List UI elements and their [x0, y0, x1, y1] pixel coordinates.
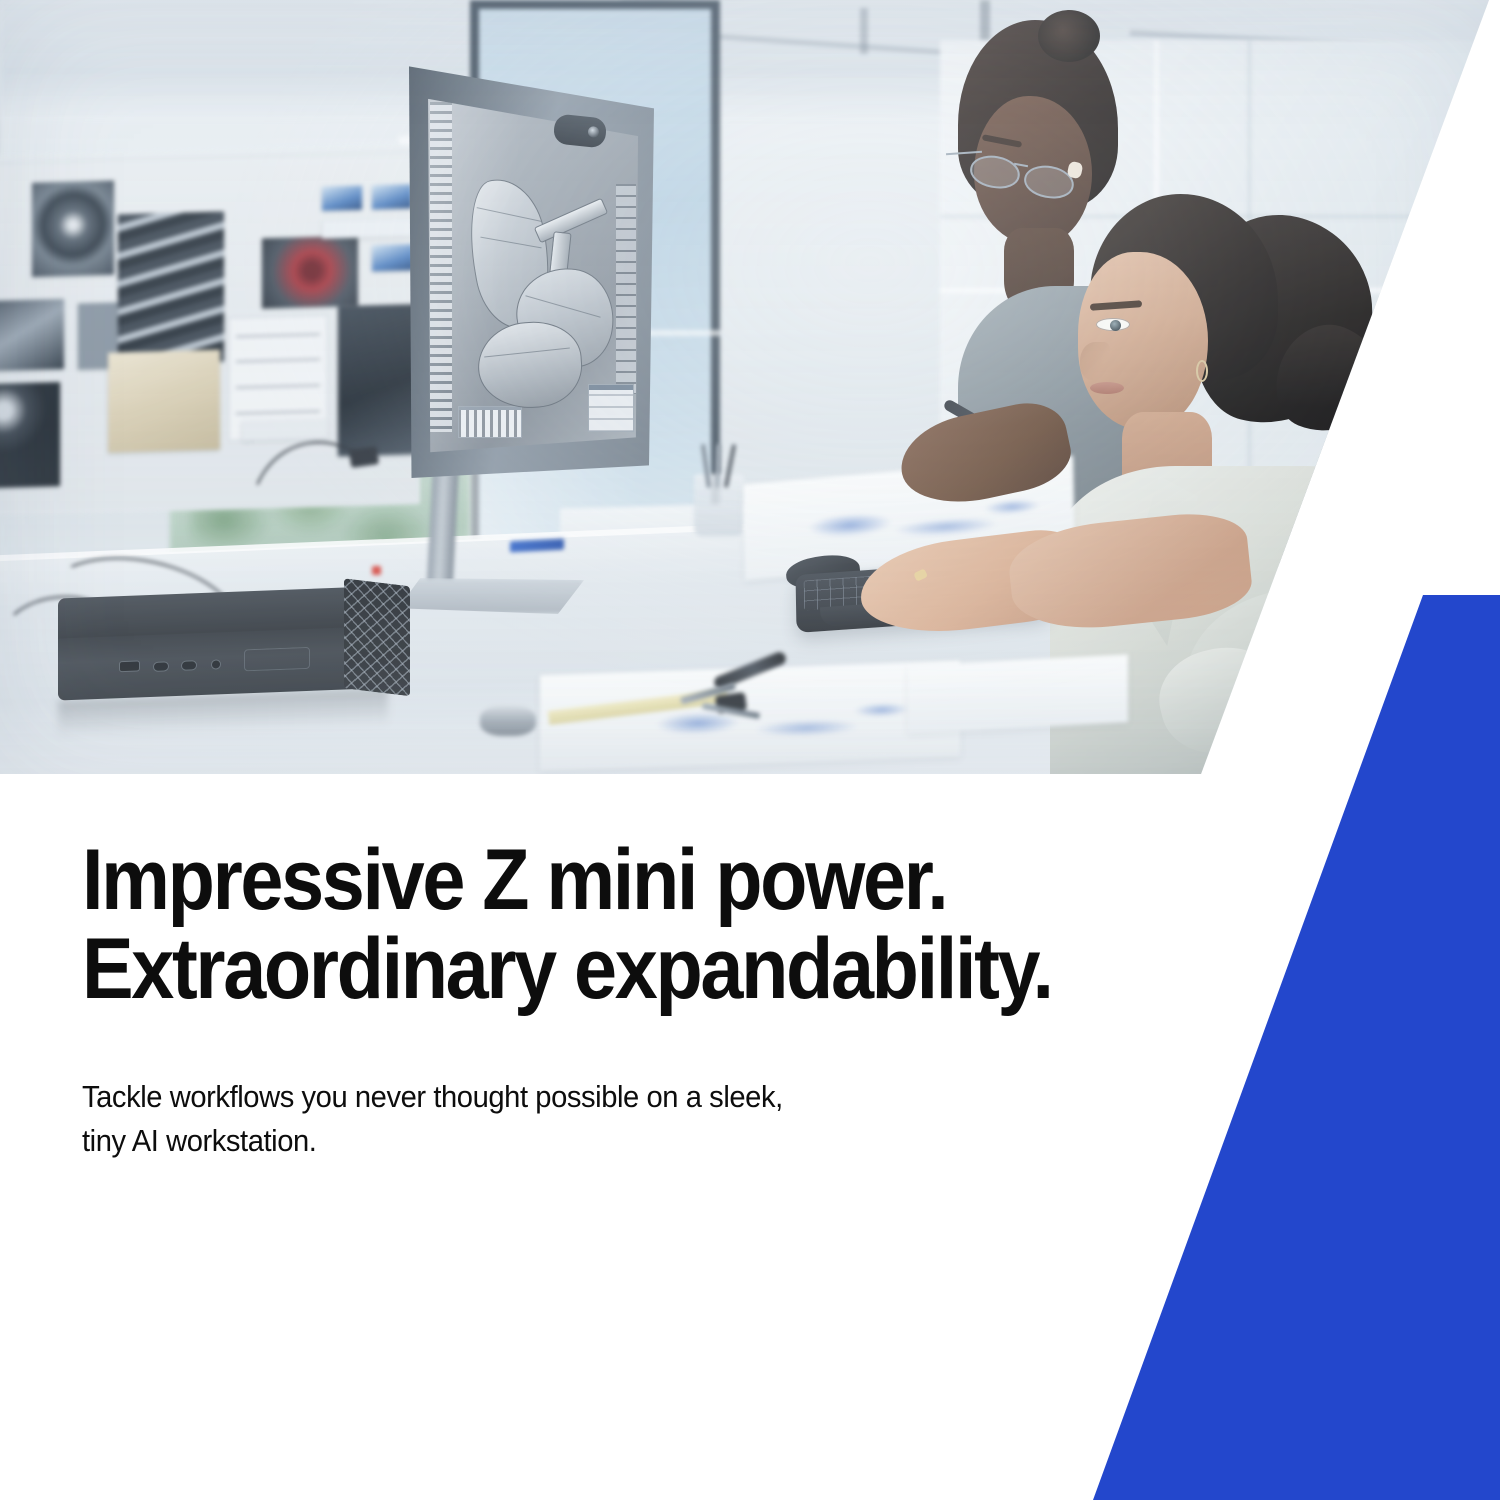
monitor-stand-base [398, 578, 584, 614]
cable-clip [349, 446, 379, 468]
workstation-front-panel [58, 627, 358, 701]
cad-right-panel [616, 184, 636, 394]
red-marker-dot [372, 566, 381, 575]
mood-board-image-wheel-grid [0, 382, 60, 488]
usb-c-port [182, 661, 196, 670]
usb-a-port [120, 661, 139, 671]
iris [1110, 320, 1121, 331]
marketing-tile: Impressive Z mini power. Extraordinary e… [0, 0, 1500, 1500]
mood-board-thumb-blue-car [322, 186, 362, 211]
mood-board-swatch-row [242, 419, 328, 441]
monitor-screen [426, 84, 638, 456]
mood-board-image-interior-seat [108, 350, 220, 453]
nose [1080, 342, 1110, 380]
ceiling-beam [860, 8, 868, 54]
mood-board-image-car-detail [0, 299, 64, 371]
car-keys [676, 686, 762, 722]
screen-glare [426, 84, 562, 456]
mood-board-image-steering-wheel [262, 236, 358, 309]
workstation-mesh-grille [344, 578, 410, 696]
pen [715, 444, 721, 488]
metal-cap [480, 706, 536, 736]
curved-monitor [404, 58, 654, 478]
earring [1196, 360, 1208, 382]
mood-board-image-car-side [118, 211, 224, 364]
ring [913, 568, 928, 581]
mood-board-image-wheel [32, 181, 114, 277]
workstation-badge-panel [244, 647, 310, 672]
blue-marker-sketch [596, 680, 936, 762]
page-title: Impressive Z mini power. Extraordinary e… [82, 836, 1072, 1013]
copy-block: Impressive Z mini power. Extraordinary e… [82, 836, 1182, 1163]
hero-photo [0, 0, 1500, 774]
sketch-paper [908, 654, 1128, 734]
usb-c-port [154, 662, 168, 671]
lips [1090, 382, 1124, 394]
subheading: Tackle workflows you never thought possi… [82, 1075, 1116, 1163]
hair-bun [1038, 10, 1100, 62]
webcam [553, 113, 608, 148]
ceiling-beam [620, 0, 1500, 7]
pen-cup [694, 474, 744, 536]
mood-board-caption-strip [322, 218, 412, 239]
face [1078, 252, 1208, 430]
z-mini-workstation [58, 585, 398, 702]
